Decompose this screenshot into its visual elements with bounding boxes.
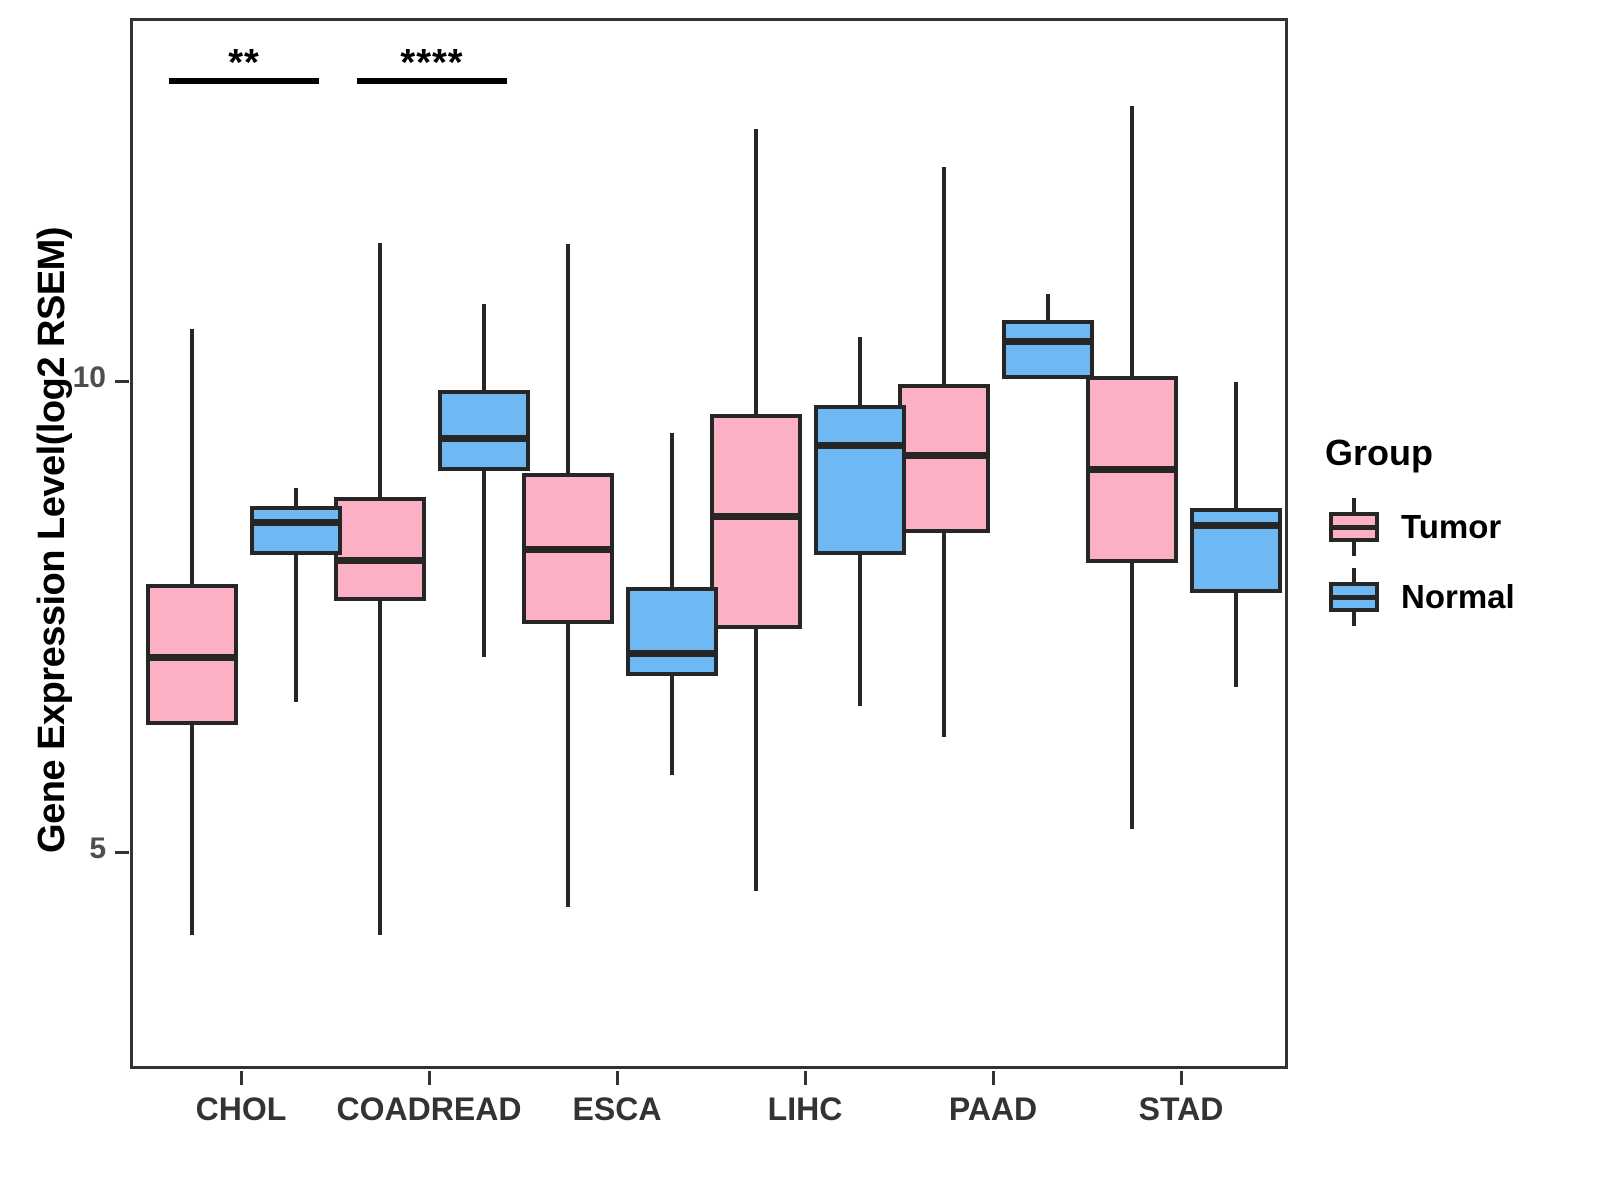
x-tick-label-chol: CHOL: [196, 1091, 287, 1128]
median-line: [1190, 522, 1282, 529]
median-line: [146, 654, 238, 661]
median-line: [626, 650, 718, 657]
whisker-lower: [566, 624, 570, 907]
y-tick-label: 5: [89, 832, 106, 866]
x-tick-mark: [428, 1071, 431, 1085]
x-tick-label-stad: STAD: [1139, 1091, 1224, 1128]
plot-panel: ******: [130, 18, 1288, 1069]
legend-title: Group: [1325, 432, 1575, 474]
x-tick-label-esca: ESCA: [573, 1091, 662, 1128]
median-line: [334, 557, 426, 564]
x-tick-mark: [1180, 1071, 1183, 1085]
x-tick-mark: [616, 1071, 619, 1085]
x-tick-label-coadread: COADREAD: [337, 1091, 522, 1128]
whisker-lower: [378, 601, 382, 936]
median-line: [710, 513, 802, 520]
x-tick-label-lihc: LIHC: [768, 1091, 843, 1128]
whisker-upper: [482, 304, 486, 391]
legend: Group TumorNormal: [1325, 432, 1575, 636]
box-normal-coadread: [438, 390, 530, 470]
whisker-upper: [858, 337, 862, 405]
whisker-upper: [1234, 382, 1238, 508]
x-tick-mark: [240, 1071, 243, 1085]
y-tick-mark: [115, 851, 129, 854]
box-tumor-coadread: [334, 497, 426, 601]
significance-label-coadread: ****: [400, 44, 463, 82]
y-tick-label: 10: [73, 361, 106, 395]
legend-key-icon: [1325, 568, 1383, 626]
whisker-lower: [754, 629, 758, 891]
whisker-upper: [294, 488, 298, 507]
whisker-upper: [566, 244, 570, 473]
whisker-lower: [294, 555, 298, 702]
y-axis-title: Gene Expression Level(log2 RSEM): [22, 10, 82, 1070]
x-tick-mark: [992, 1071, 995, 1085]
whisker-upper: [1130, 106, 1134, 377]
box-tumor-lihc: [710, 414, 802, 629]
legend-entry-normal[interactable]: Normal: [1325, 566, 1575, 628]
whisker-upper: [190, 329, 194, 584]
median-line: [814, 442, 906, 449]
box-normal-stad: [1190, 508, 1282, 593]
box-normal-paad: [1002, 320, 1094, 379]
legend-entry-tumor[interactable]: Tumor: [1325, 496, 1575, 558]
box-normal-lihc: [814, 405, 906, 556]
whisker-upper: [378, 243, 382, 498]
median-line: [522, 546, 614, 553]
plot-area: ******: [133, 21, 1285, 1066]
whisker-upper: [754, 129, 758, 414]
y-tick-mark: [115, 380, 129, 383]
legend-label: Tumor: [1401, 508, 1501, 546]
whisker-upper: [942, 167, 946, 384]
x-tick-label-paad: PAAD: [949, 1091, 1037, 1128]
whisker-upper: [1046, 294, 1050, 319]
whisker-lower: [942, 533, 946, 738]
whisker-lower: [190, 725, 194, 935]
median-line: [1086, 466, 1178, 473]
whisker-lower: [482, 471, 486, 658]
median-line: [898, 452, 990, 459]
median-line: [250, 519, 342, 526]
boxplot-figure: Gene Expression Level(log2 RSEM) ****** …: [0, 0, 1600, 1200]
whisker-lower: [670, 676, 674, 775]
median-line: [1002, 338, 1094, 345]
box-normal-chol: [250, 506, 342, 555]
box-normal-esca: [626, 587, 718, 677]
whisker-lower: [858, 555, 862, 706]
whisker-upper: [670, 433, 674, 587]
whisker-lower: [1130, 563, 1134, 829]
legend-key-icon: [1325, 498, 1383, 556]
median-line: [438, 435, 530, 442]
x-tick-mark: [804, 1071, 807, 1085]
significance-label-chol: **: [228, 44, 260, 82]
legend-label: Normal: [1401, 578, 1515, 616]
whisker-lower: [1234, 593, 1238, 687]
legend-entries: TumorNormal: [1325, 496, 1575, 628]
